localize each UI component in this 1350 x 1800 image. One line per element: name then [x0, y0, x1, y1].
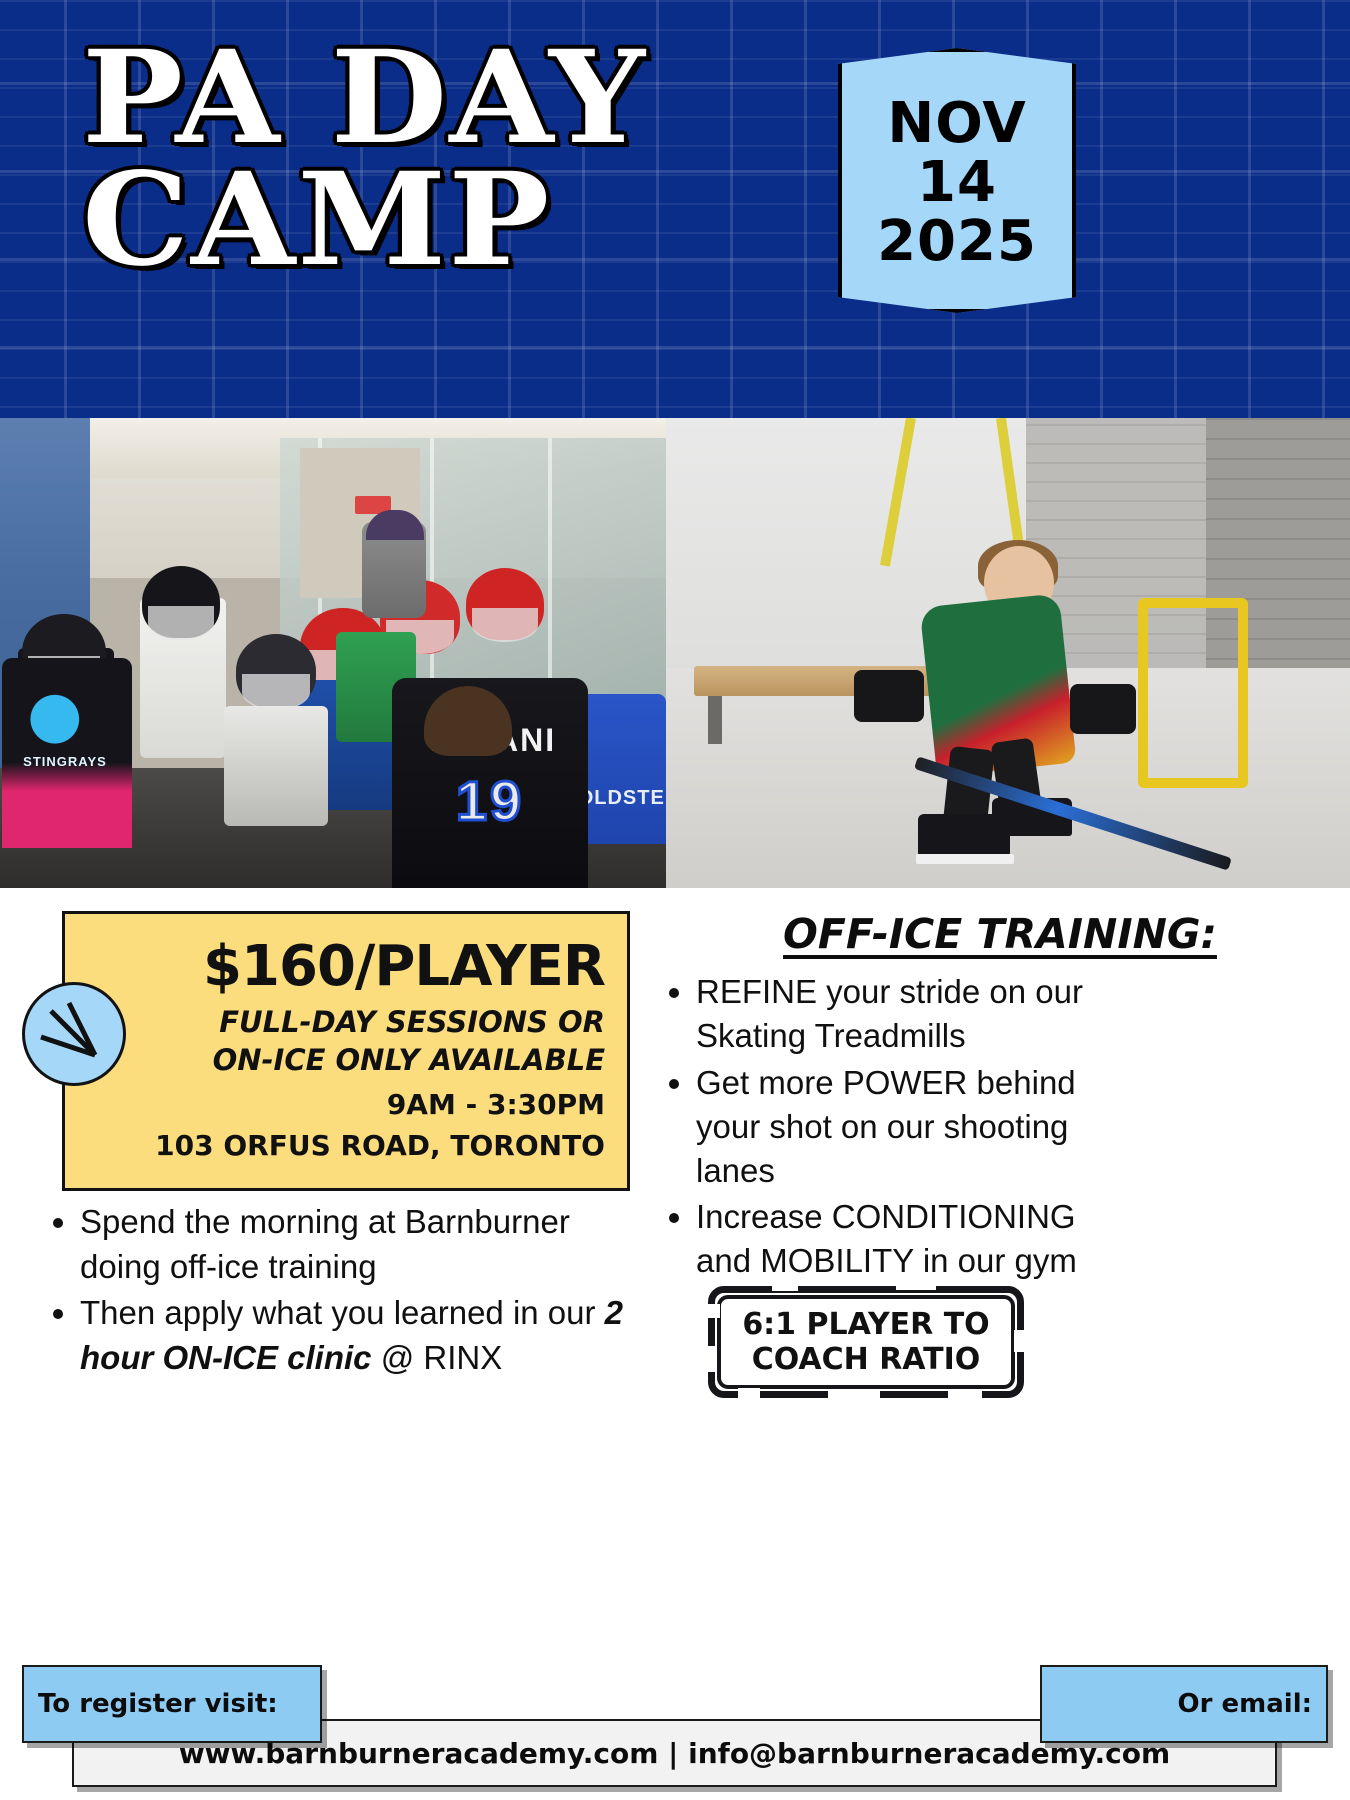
- price-sub-line-1: FULL-DAY SESSIONS OR: [87, 1003, 605, 1041]
- stamp-grunge-mark: [705, 1346, 715, 1372]
- stingrays-jersey-text: STINGRAYS: [10, 754, 120, 769]
- skate-blade-icon: [916, 854, 1014, 864]
- title-line-1: PA DAY: [82, 38, 880, 160]
- list-item: Spend the morning at Barnburner doing of…: [80, 1200, 630, 1289]
- page-title: PA DAY CAMP: [82, 38, 880, 281]
- stamp-grunge-mark: [738, 1388, 760, 1400]
- stamp-grunge-mark: [828, 1390, 880, 1400]
- vakani-jersey-number: 19: [392, 768, 588, 833]
- off-ice-heading: OFF-ICE TRAINING:: [660, 910, 1340, 958]
- stamp-grunge-mark: [948, 1390, 982, 1400]
- left-bullet-2-prefix: Then apply what you learned in our: [80, 1294, 605, 1331]
- register-tag-label: To register visit:: [24, 1689, 320, 1719]
- price-info-box: $160/PLAYER FULL-DAY SESSIONS OR ON-ICE …: [62, 911, 630, 1191]
- off-ice-bullet-1: REFINE your stride on our Skating Treadm…: [696, 973, 1083, 1054]
- header-banner: PA DAY CAMP NOV 14 2025: [0, 0, 1350, 418]
- stamp-grunge-mark: [706, 1304, 720, 1318]
- title-line-2: CAMP: [82, 160, 880, 282]
- register-tag: To register visit:: [22, 1665, 322, 1743]
- list-item: Then apply what you learned in our 2 hou…: [80, 1291, 630, 1380]
- stamp-line-1: 6:1 PLAYER TO: [742, 1307, 989, 1342]
- player-coach-ratio-stamp: 6:1 PLAYER TO COACH RATIO: [708, 1286, 1024, 1398]
- stamp-grunge-mark: [1014, 1330, 1026, 1352]
- price-amount: $160/PLAYER: [87, 938, 605, 997]
- camp-address: 103 ORFUS ROAD, TORONTO: [87, 1126, 605, 1167]
- off-ice-bullet-list: REFINE your stride on our Skating Treadm…: [660, 970, 1130, 1286]
- list-item: Get more POWER behind your shot on our s…: [696, 1061, 1130, 1193]
- date-day: 14: [917, 154, 997, 211]
- stamp-line-2: COACH RATIO: [752, 1342, 981, 1377]
- stamp-inner-border: 6:1 PLAYER TO COACH RATIO: [717, 1295, 1015, 1389]
- left-bullet-2-suffix: @ RINX: [372, 1339, 503, 1376]
- date-month: NOV: [887, 95, 1026, 152]
- footer-contact: www.barnburneracademy.com | info@barnbur…: [0, 1657, 1350, 1787]
- stingrays-logo-icon: [18, 694, 110, 750]
- hockey-glove-icon: [854, 670, 924, 722]
- player-grey-jersey: [224, 706, 328, 826]
- yellow-rack-icon: [1138, 598, 1248, 788]
- email-tag: Or email:: [1040, 1665, 1328, 1743]
- off-ice-bullet-3: Increase CONDITIONING and MOBILITY in ou…: [696, 1198, 1077, 1279]
- helmet-cage-icon: [148, 606, 214, 640]
- left-bullet-list: Spend the morning at Barnburner doing of…: [44, 1200, 630, 1382]
- email-tag-label: Or email:: [1042, 1689, 1326, 1719]
- gym-bench-leg: [708, 696, 722, 744]
- contact-text[interactable]: www.barnburneracademy.com | info@barnbur…: [179, 1737, 1170, 1770]
- hockey-glove-icon: [1070, 684, 1136, 734]
- left-bullet-1-text: Spend the morning at Barnburner doing of…: [80, 1203, 570, 1285]
- helmet-cage-icon: [472, 608, 538, 642]
- off-ice-bullet-2: Get more POWER behind your shot on our s…: [696, 1064, 1076, 1189]
- photo-off-ice-training: [666, 418, 1350, 888]
- stamp-grunge-mark: [772, 1282, 798, 1291]
- player-stingrays-jersey: STINGRAYS: [2, 658, 132, 848]
- off-ice-heading-text: OFF-ICE TRAINING:: [783, 910, 1217, 958]
- price-sub-line-2: ON-ICE ONLY AVAILABLE: [87, 1041, 605, 1079]
- poster-root: PA DAY CAMP NOV 14 2025: [0, 0, 1350, 1800]
- list-item: REFINE your stride on our Skating Treadm…: [696, 970, 1130, 1058]
- photo-arena-group: GOLDSTE STINGRAYS VAKANI 19: [0, 418, 666, 888]
- camp-hours: 9AM - 3:30PM: [87, 1085, 605, 1126]
- list-item: Increase CONDITIONING and MOBILITY in ou…: [696, 1195, 1130, 1283]
- arrow-down-right-icon: [22, 982, 126, 1086]
- date-year: 2025: [877, 213, 1037, 270]
- date-badge: NOV 14 2025: [838, 48, 1076, 313]
- stamp-grunge-mark: [896, 1282, 936, 1290]
- helmet-cage-icon: [242, 674, 310, 710]
- photo-strip: GOLDSTE STINGRAYS VAKANI 19: [0, 418, 1350, 888]
